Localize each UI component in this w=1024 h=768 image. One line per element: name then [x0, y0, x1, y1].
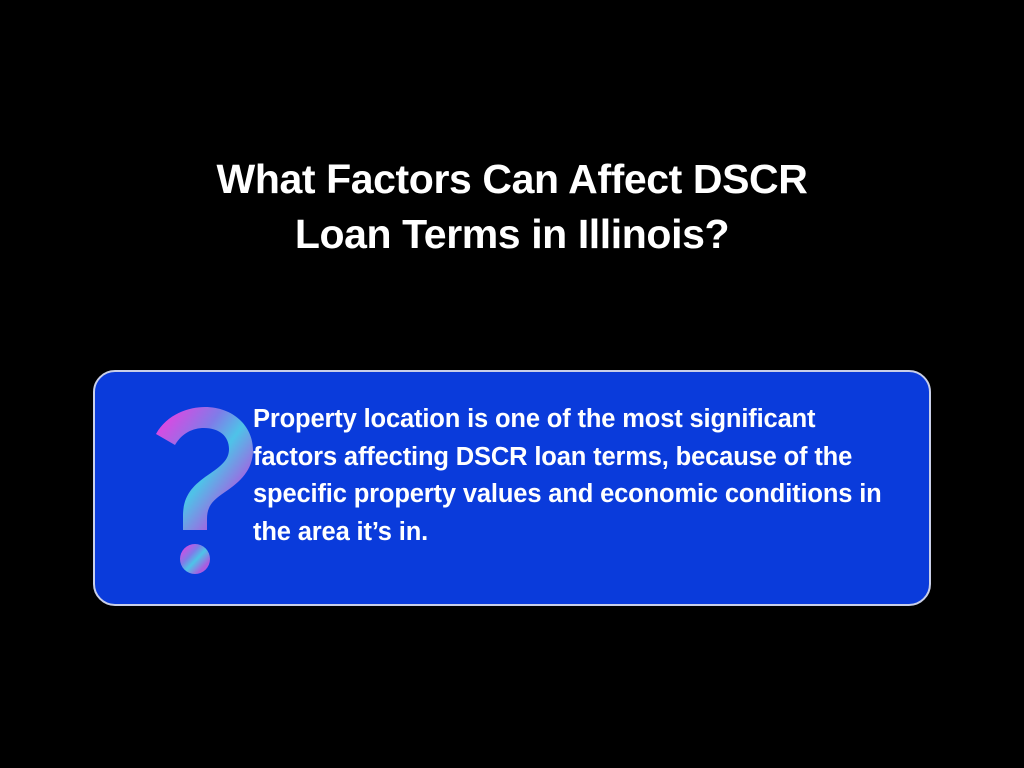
answer-card: Property location is one of the most sig… — [93, 370, 931, 606]
answer-body-text: Property location is one of the most sig… — [253, 372, 929, 551]
page-title: What Factors Can Affect DSCR Loan Terms … — [112, 152, 912, 262]
page-title-line-1: What Factors Can Affect DSCR — [112, 152, 912, 207]
slide-canvas: What Factors Can Affect DSCR Loan Terms … — [0, 0, 1024, 768]
question-mark-icon — [147, 407, 259, 575]
question-mark-icon-container — [95, 372, 265, 608]
page-title-line-2: Loan Terms in Illinois? — [112, 207, 912, 262]
